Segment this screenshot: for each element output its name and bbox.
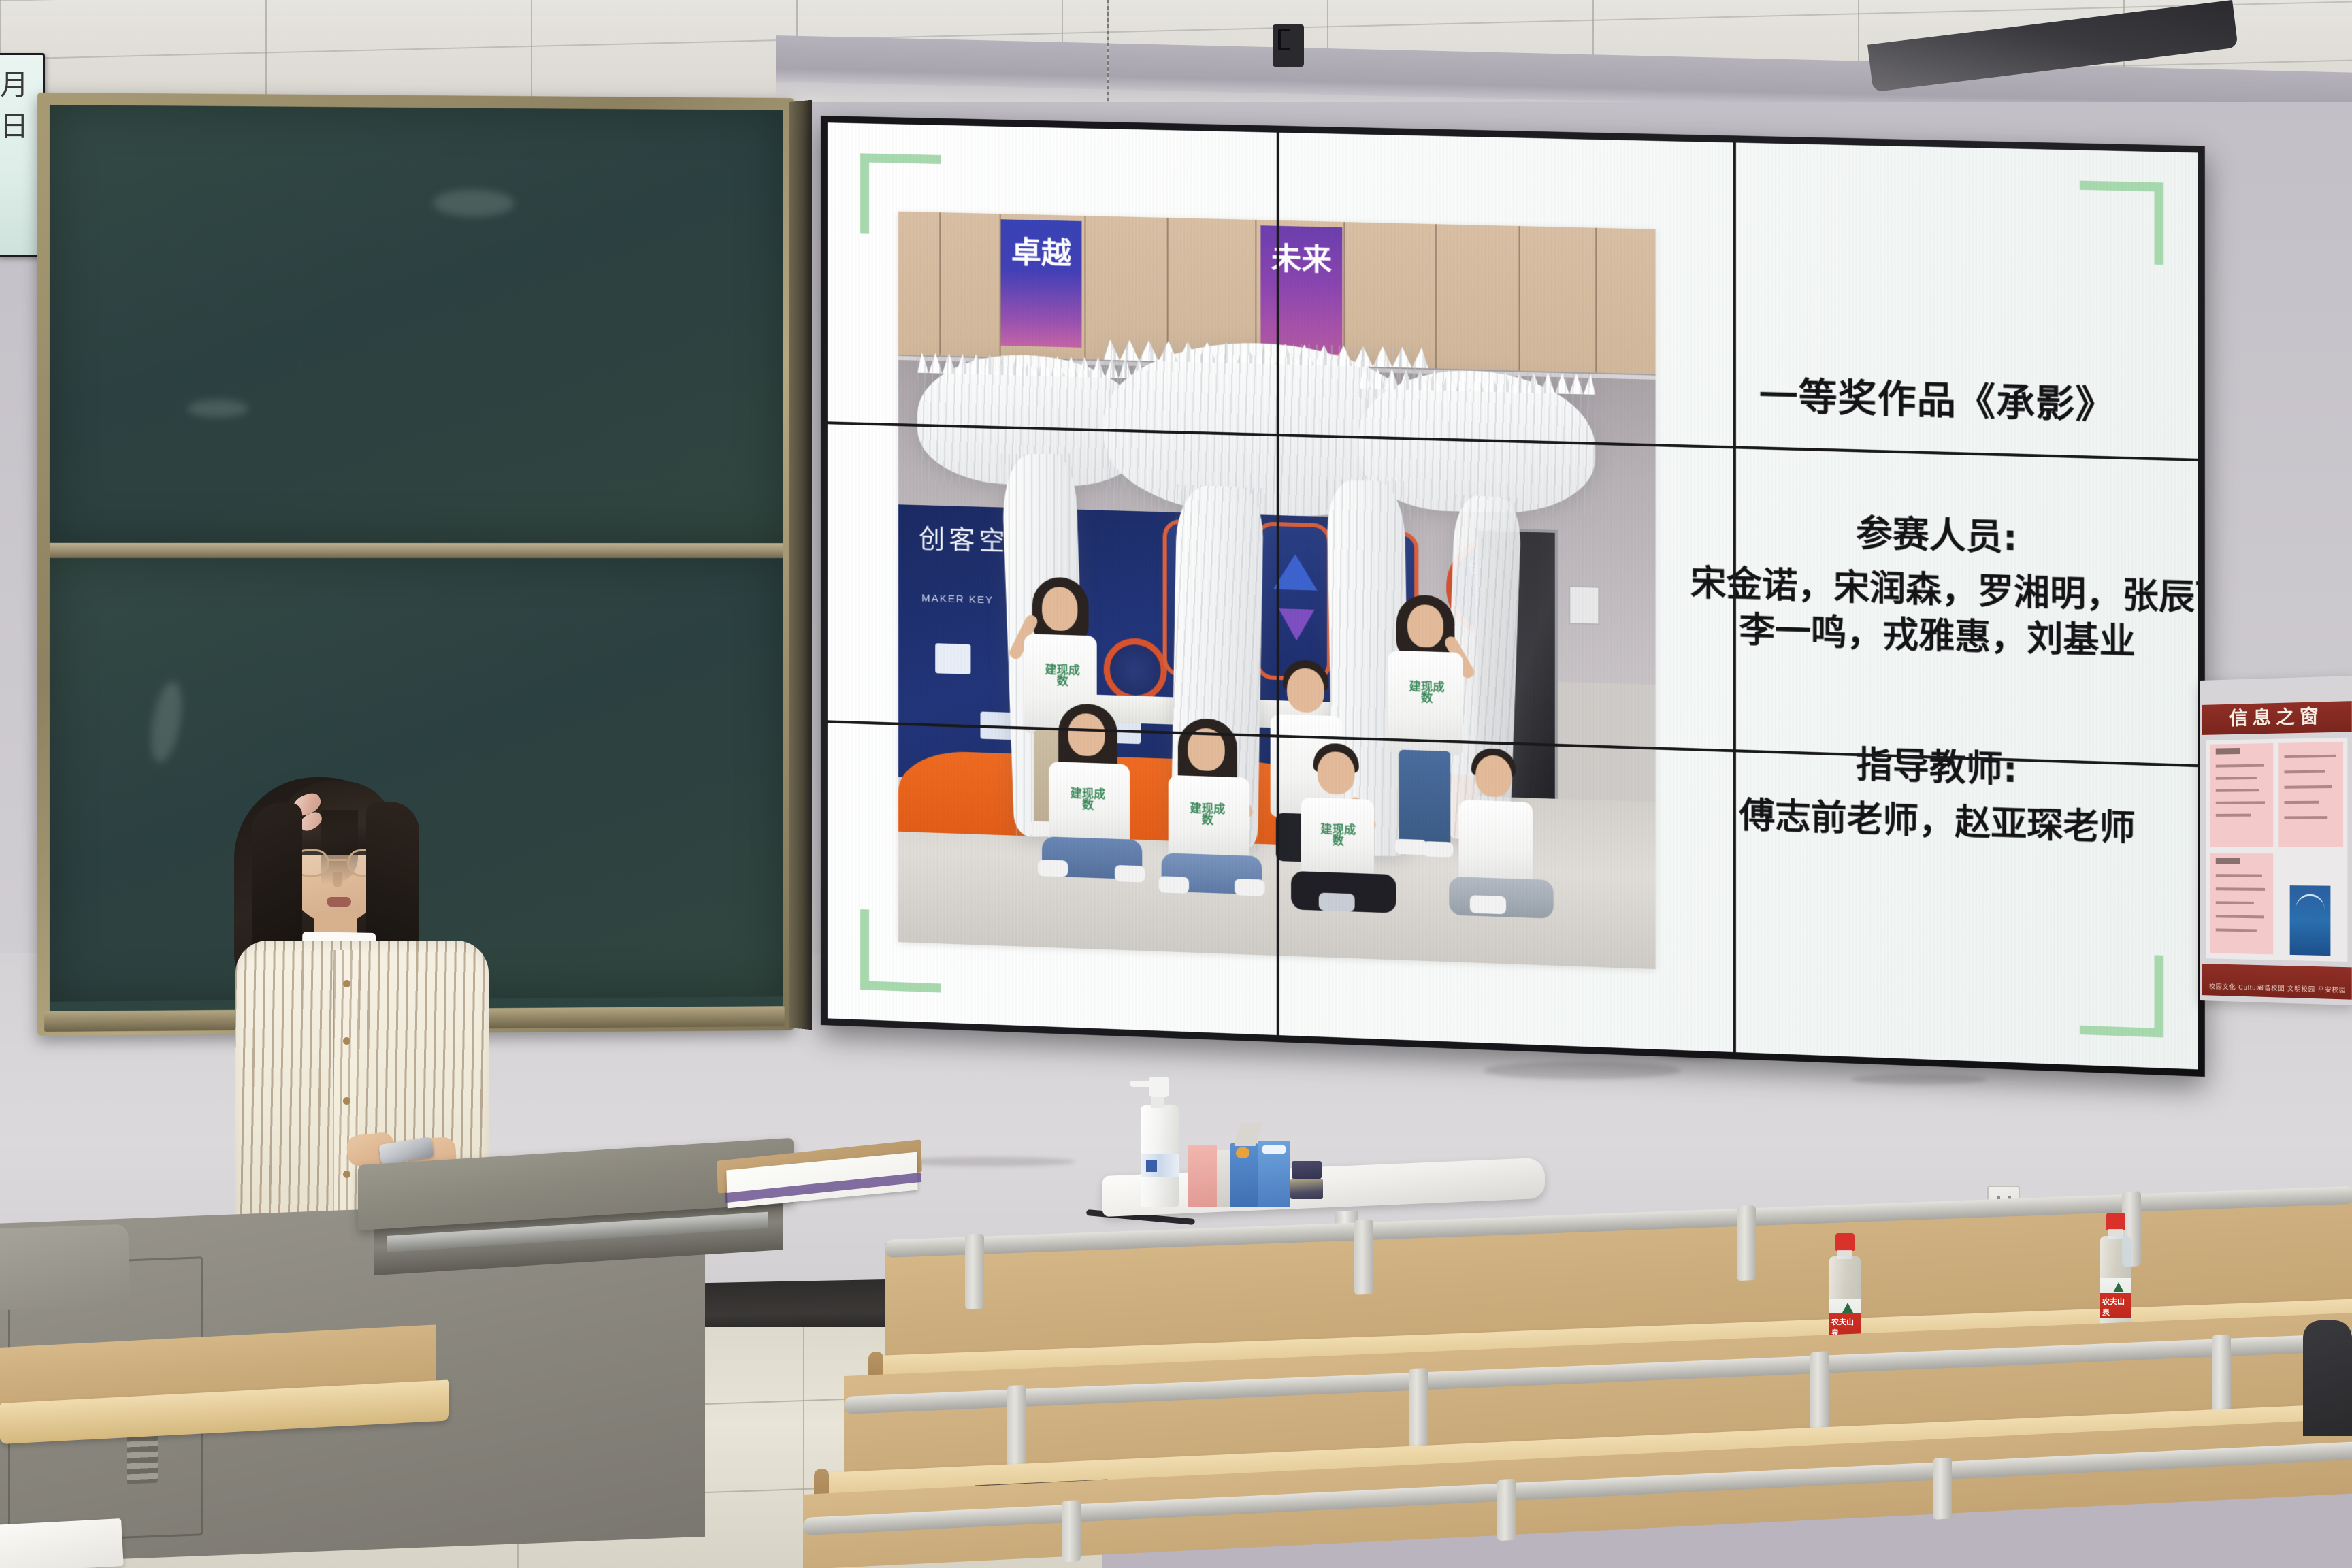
sanitizer-pump-icon[interactable] [1149, 1077, 1169, 1097]
chalkboard-pane-top [50, 105, 783, 543]
chalk-smudge [187, 399, 249, 417]
chalk-smudge [146, 679, 187, 765]
blackboard-eraser[interactable] [1292, 1161, 1322, 1179]
desk-bracket [1062, 1500, 1081, 1562]
water-bottle[interactable]: 农夫山泉 [2100, 1213, 2131, 1339]
bulletin-board-footer: 校园文化 Culture 和谐校园 文明校园 平安校园 [2202, 964, 2352, 1000]
bulletin-notice-card [2210, 853, 2273, 954]
desk-bracket [2212, 1335, 2231, 1417]
bulletin-footer-right: 和谐校园 文明校园 平安校园 [2257, 983, 2346, 994]
wall-scuff [1851, 1074, 1987, 1085]
bulletin-notice-card [2210, 743, 2273, 847]
chalk-smudge [433, 189, 514, 217]
photo-banner-right: 未来 [1260, 225, 1342, 354]
shirt-button [343, 1037, 350, 1045]
photo-student: 建现成数 [1158, 717, 1268, 899]
desk-bracket [1354, 1220, 1373, 1295]
mountain-icon [2113, 1282, 2124, 1292]
desk-bracket [1810, 1351, 1829, 1433]
slide: 卓越 未来 创客空间 MAKER KEY [828, 122, 2198, 1069]
advisors-line: 傅志前老师，赵亚琛老师 [1690, 791, 2185, 854]
chalk-box-white[interactable] [1217, 1150, 1230, 1207]
water-bottle-brand: 农夫山泉 [2102, 1296, 2129, 1318]
water-bottle-label: 农夫山泉 [2100, 1278, 2131, 1318]
desk-bracket [1933, 1457, 1952, 1519]
bulletin-board: 信息之窗 [2200, 676, 2352, 1005]
photo-student [1446, 747, 1569, 924]
desk-bracket [1007, 1385, 1026, 1467]
photo-banner-left: 卓越 [1001, 219, 1082, 348]
chalk-box-logo [1236, 1147, 1249, 1158]
presenter-nose [333, 872, 342, 887]
wall-scuff [898, 1157, 1075, 1166]
blackboard-eraser[interactable] [1290, 1179, 1323, 1199]
shirt-button [343, 1097, 350, 1105]
ceiling-sensor-bracket-icon [1273, 24, 1304, 67]
presenter-mouth [327, 897, 351, 906]
chalk-box-pink[interactable] [1188, 1145, 1217, 1207]
chalkboard-mid-rail [50, 543, 783, 558]
video-wall[interactable]: 卓越 未来 创客空间 MAKER KEY [821, 116, 2205, 1077]
chalkboard-side-edge [789, 100, 812, 1030]
water-bottle-label: 农夫山泉 [1829, 1298, 1861, 1338]
desk-bracket [965, 1234, 984, 1309]
mountain-icon [1842, 1303, 1853, 1313]
seated-person-partial [2303, 1320, 2352, 1436]
notebook[interactable] [0, 1518, 124, 1568]
bulletin-footer-left: 校园文化 Culture [2209, 981, 2264, 992]
shirt-button [343, 980, 350, 987]
panel-seam-vertical [1277, 133, 1279, 1035]
hand-sanitizer-bottle[interactable] [1141, 1105, 1179, 1207]
bulletin-poster [2290, 885, 2331, 955]
video-wall-screen[interactable]: 卓越 未来 创客空间 MAKER KEY [828, 122, 2198, 1069]
bulletin-notice-card [2278, 742, 2343, 847]
slide-corner-bracket-icon [2080, 952, 2163, 1037]
chalk-box-label [1262, 1145, 1286, 1154]
slide-corner-bracket-icon [2080, 181, 2163, 265]
wall-sign-text: 月日 [0, 62, 43, 145]
wall-scuff [1484, 1062, 1681, 1079]
desk-bracket [1409, 1368, 1428, 1450]
classroom-scene: L15 月日 [0, 0, 2352, 1568]
bulletin-board-title: 信息之窗 [2202, 701, 2352, 735]
bulletin-board-body [2206, 738, 2348, 962]
desk-bracket [1737, 1205, 1756, 1281]
panel-seam-vertical [1733, 142, 1736, 1052]
chair[interactable] [0, 1224, 131, 1311]
photo-student: 建现成数 [1290, 742, 1414, 917]
desk-bracket [1497, 1479, 1516, 1541]
slide-text-block: 一等奖作品《承影》 参赛人员: 宋金诺，宋润森，罗湘明，张辰雨， 李一鸣，戎雅惠… [1690, 363, 2185, 854]
